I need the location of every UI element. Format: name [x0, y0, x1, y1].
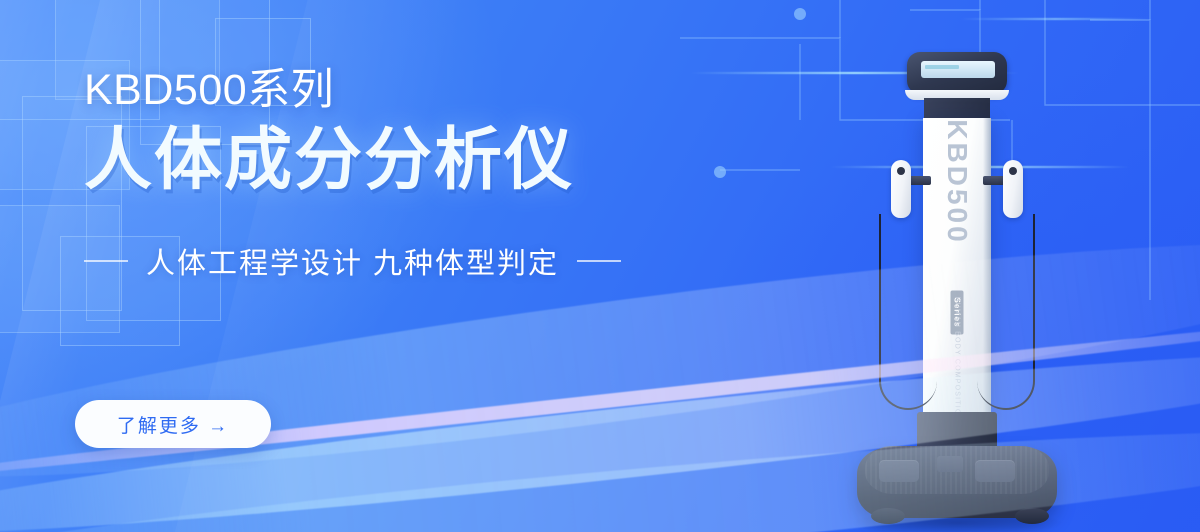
device-leveling-foot-right — [1015, 508, 1049, 524]
device-handle-arm-right — [983, 176, 1005, 185]
device-foot-pad-left — [879, 460, 919, 482]
device-center-pad — [937, 456, 963, 472]
device-lcd-screen — [921, 61, 995, 78]
device-brand-label: KBD500 — [941, 119, 973, 244]
hero-subtitle-row: 人体工程学设计 九种体型判定 — [84, 240, 704, 282]
product-hero-banner: KBD500 Series HUMAN BODY COMPOSITION ANA… — [0, 0, 1200, 532]
decor-dash-left — [84, 260, 128, 262]
device-lcd-readout — [925, 65, 959, 69]
device-leveling-foot-left — [871, 508, 905, 524]
learn-more-button[interactable]: 了解更多 → — [75, 400, 271, 448]
decor-glow-line-3 — [960, 18, 1150, 20]
learn-more-button-label: 了解更多 → — [117, 411, 229, 438]
device-cable-right — [977, 214, 1035, 410]
decor-dash-right — [577, 260, 621, 262]
hero-subtitle: 人体工程学设计 九种体型判定 — [146, 240, 559, 282]
device-handle-arm-left — [909, 176, 931, 185]
device-handle-right — [1003, 160, 1023, 218]
page-title: 人体成分分析仪 — [84, 122, 704, 198]
device-foot-pad-right — [975, 460, 1015, 482]
device-handle-button-right — [1009, 167, 1017, 175]
product-series-title: KBD500系列 — [84, 66, 704, 114]
device-handle-left — [891, 160, 911, 218]
device-handle-button-left — [897, 167, 905, 175]
hero-copy-block: KBD500系列 人体成分分析仪 人体工程学设计 九种体型判定 — [84, 66, 704, 282]
device-cable-left — [879, 214, 937, 410]
product-device-image: KBD500 Series HUMAN BODY COMPOSITION ANA… — [845, 42, 1145, 532]
device-display-head — [907, 52, 1007, 94]
